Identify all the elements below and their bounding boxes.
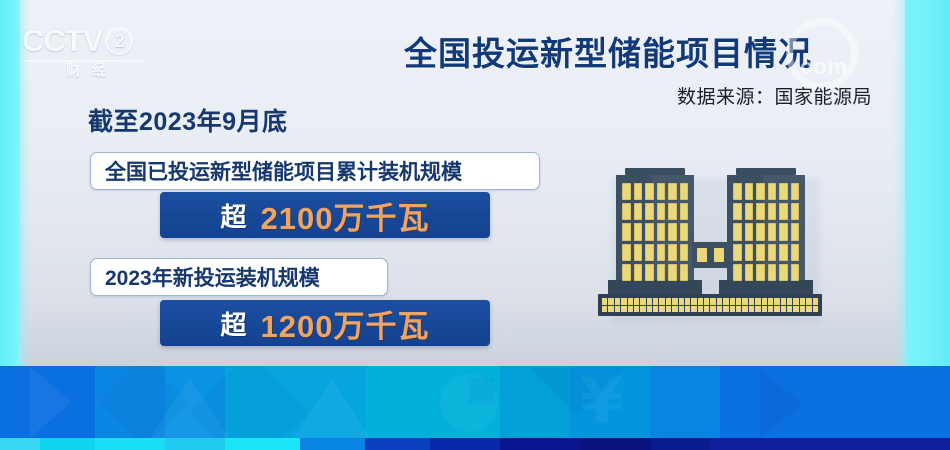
window <box>698 306 703 313</box>
window <box>645 203 654 220</box>
left-cyan-rail <box>0 0 20 366</box>
window <box>680 244 689 261</box>
band-segment <box>365 438 430 450</box>
window <box>668 203 677 220</box>
window <box>733 223 742 240</box>
window <box>745 223 754 240</box>
window <box>768 223 777 240</box>
strip-segment <box>650 366 720 438</box>
window <box>791 223 800 240</box>
metric-label-cumulative: 全国已投运新型储能项目累计装机规模 <box>90 152 540 190</box>
window <box>634 306 639 313</box>
window <box>736 306 741 313</box>
window <box>755 306 760 313</box>
bottom-decorative-strip: ¥ <box>0 366 950 450</box>
band-segment <box>225 438 300 450</box>
window <box>749 306 754 313</box>
window <box>622 223 631 240</box>
window <box>749 298 754 305</box>
window <box>768 306 773 313</box>
triangle-shape <box>30 366 72 438</box>
window <box>742 298 747 305</box>
window <box>680 203 689 220</box>
window <box>756 183 765 200</box>
window <box>791 244 800 261</box>
window <box>679 306 684 313</box>
podium-windows <box>602 298 818 312</box>
as-of-date: 截至2023年9月底 <box>88 102 288 138</box>
window <box>634 244 643 261</box>
band-segment <box>165 438 225 450</box>
window <box>704 306 709 313</box>
window <box>762 306 767 313</box>
window <box>774 306 779 313</box>
value-amount: 2100万千瓦 <box>261 193 430 238</box>
window <box>710 306 715 313</box>
window <box>723 306 728 313</box>
band-segment <box>430 438 500 450</box>
window <box>742 306 747 313</box>
window <box>668 183 677 200</box>
right-rail-fade <box>893 0 905 366</box>
window <box>645 244 654 261</box>
window <box>710 298 715 305</box>
content-panel: CCTV 2 财经 全国投运新型储能项目情况 com 数据来源：国家能源局 截至… <box>0 0 950 366</box>
strip-segment <box>720 366 950 438</box>
window <box>680 264 689 281</box>
band-segment <box>0 438 40 450</box>
window <box>745 264 754 281</box>
window <box>657 183 666 200</box>
broadcast-graphic: CCTV 2 财经 全国投运新型储能项目情况 com 数据来源：国家能源局 截至… <box>0 0 950 450</box>
bridge-window <box>697 248 707 262</box>
window <box>622 203 631 220</box>
window <box>668 223 677 240</box>
window <box>668 264 677 281</box>
window <box>755 298 760 305</box>
yen-currency-icon: ¥ <box>580 370 623 432</box>
connecting-bridge <box>692 242 730 268</box>
metric-value-cumulative: 超 2100万千瓦 <box>160 192 490 238</box>
window <box>768 264 777 281</box>
window <box>621 298 626 305</box>
window <box>672 306 677 313</box>
strip-bottom-band <box>0 438 950 450</box>
window <box>779 244 788 261</box>
window <box>653 306 658 313</box>
window <box>806 298 811 305</box>
window <box>793 306 798 313</box>
band-segment <box>580 438 650 450</box>
window <box>756 244 765 261</box>
value-prefix: 超 <box>221 305 247 342</box>
window <box>698 298 703 305</box>
band-segment <box>40 438 95 450</box>
window <box>685 298 690 305</box>
window <box>653 298 658 305</box>
window <box>634 264 643 281</box>
window <box>608 298 613 305</box>
triangle-shape <box>760 368 802 440</box>
window <box>691 298 696 305</box>
window <box>691 306 696 313</box>
window <box>645 223 654 240</box>
window <box>779 183 788 200</box>
window <box>622 183 631 200</box>
window <box>647 298 652 305</box>
window <box>736 298 741 305</box>
window <box>657 203 666 220</box>
window <box>685 306 690 313</box>
window <box>787 298 792 305</box>
value-prefix: 超 <box>221 197 247 234</box>
bridge-window <box>714 248 724 262</box>
window <box>647 306 652 313</box>
window <box>781 298 786 305</box>
window <box>717 306 722 313</box>
window <box>666 306 671 313</box>
window <box>768 183 777 200</box>
window <box>768 298 773 305</box>
window <box>668 244 677 261</box>
window <box>793 298 798 305</box>
window <box>659 298 664 305</box>
window <box>645 183 654 200</box>
window <box>628 306 633 313</box>
window <box>645 264 654 281</box>
window <box>779 203 788 220</box>
window <box>791 203 800 220</box>
right-cyan-rail <box>905 0 950 366</box>
window <box>787 306 792 313</box>
window <box>621 306 626 313</box>
window <box>745 244 754 261</box>
triangle-shape <box>292 380 372 440</box>
window <box>745 183 754 200</box>
window <box>800 298 805 305</box>
window <box>657 264 666 281</box>
metric-label-new-2023: 2023年新投运装机规模 <box>90 258 388 296</box>
metric-value-new-2023: 超 1200万千瓦 <box>160 300 490 346</box>
window <box>781 306 786 313</box>
window <box>717 298 722 305</box>
window <box>733 264 742 281</box>
window <box>615 306 620 313</box>
left-tower-cap <box>625 168 685 175</box>
site-watermark-text: com <box>800 54 848 80</box>
window <box>679 298 684 305</box>
window <box>745 203 754 220</box>
logo-mark: CCTV 2 <box>22 24 148 58</box>
right-tower-windows <box>733 183 799 281</box>
window <box>800 306 805 313</box>
band-segment <box>95 438 165 450</box>
logo-channel-number: 2 <box>105 27 133 55</box>
window <box>723 298 728 305</box>
window <box>779 264 788 281</box>
window <box>634 298 639 305</box>
pie-chart-icon <box>440 374 498 432</box>
window <box>657 223 666 240</box>
window <box>813 306 818 313</box>
window <box>640 298 645 305</box>
window <box>774 298 779 305</box>
window <box>806 306 811 313</box>
cctv-channel-logo: CCTV 2 财经 <box>22 24 148 82</box>
window <box>813 298 818 305</box>
window <box>730 306 735 313</box>
window <box>628 298 633 305</box>
window <box>608 306 613 313</box>
logo-underline <box>24 60 146 62</box>
window <box>622 244 631 261</box>
window <box>768 203 777 220</box>
window <box>762 298 767 305</box>
window <box>602 306 607 313</box>
window <box>640 306 645 313</box>
window <box>680 183 689 200</box>
value-amount: 1200万千瓦 <box>261 301 430 346</box>
window <box>733 203 742 220</box>
window <box>634 183 643 200</box>
window <box>733 244 742 261</box>
office-buildings-icon <box>598 160 828 340</box>
window <box>680 223 689 240</box>
band-segment <box>710 438 950 450</box>
window <box>791 264 800 281</box>
band-segment <box>300 438 365 450</box>
window <box>756 223 765 240</box>
window <box>659 306 664 313</box>
window <box>634 203 643 220</box>
logo-channel-name: 财经 <box>22 59 148 80</box>
window <box>779 223 788 240</box>
window <box>768 244 777 261</box>
window <box>756 264 765 281</box>
window <box>666 298 671 305</box>
window <box>756 203 765 220</box>
data-source-label: 数据来源：国家能源局 <box>404 82 884 109</box>
band-segment <box>650 438 710 450</box>
window <box>634 223 643 240</box>
window <box>730 298 735 305</box>
window <box>733 183 742 200</box>
window <box>622 264 631 281</box>
right-tower-cap <box>736 168 796 175</box>
window <box>704 298 709 305</box>
window <box>615 298 620 305</box>
window <box>672 298 677 305</box>
window <box>791 183 800 200</box>
band-segment <box>500 438 580 450</box>
window <box>657 244 666 261</box>
window <box>602 298 607 305</box>
logo-channel-mark: CCTV <box>22 24 102 58</box>
left-tower-windows <box>622 183 688 281</box>
